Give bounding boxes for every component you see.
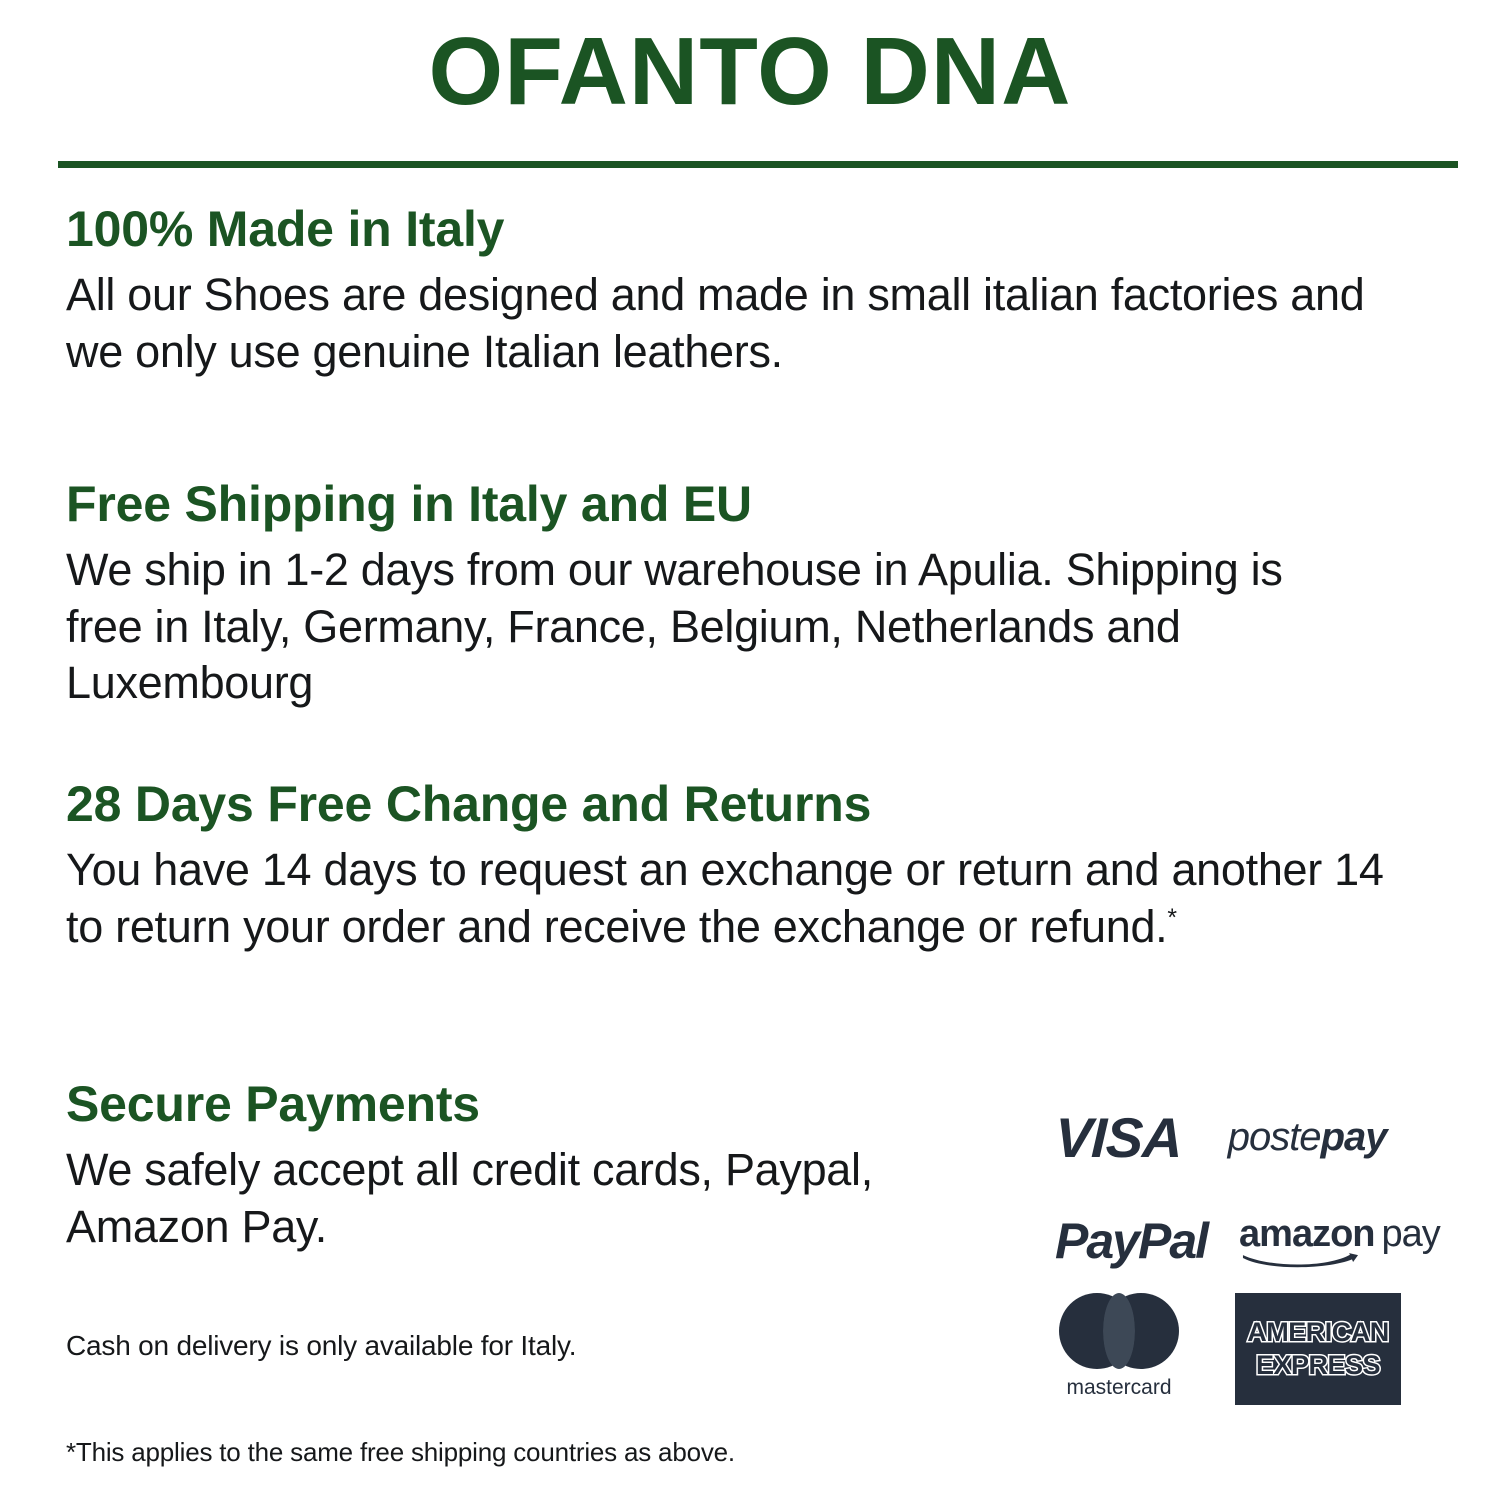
ofanto-dna-info-panel: OFANTO DNA 100% Made in Italy All our Sh… bbox=[0, 0, 1500, 1500]
payment-methods-group: VISA postepay PayPal amazonpay mastercar… bbox=[1055, 1085, 1455, 1423]
amex-line-1: AMERICAN bbox=[1247, 1319, 1389, 1346]
section-free-shipping: Free Shipping in Italy and EU We ship in… bbox=[66, 475, 1366, 712]
section-title-made-in-italy: 100% Made in Italy bbox=[66, 200, 1416, 259]
mastercard-icon: mastercard bbox=[1055, 1293, 1183, 1400]
section-body-secure-payments: We safely accept all credit cards, Paypa… bbox=[66, 1142, 996, 1255]
mastercard-overlap bbox=[1103, 1293, 1135, 1369]
amex-line-2: EXPRESS bbox=[1256, 1352, 1380, 1379]
section-title-free-shipping: Free Shipping in Italy and EU bbox=[66, 475, 1366, 534]
mastercard-label: mastercard bbox=[1055, 1376, 1183, 1400]
section-title-returns: 28 Days Free Change and Returns bbox=[66, 775, 1426, 834]
mastercard-circles-icon bbox=[1059, 1293, 1179, 1369]
postepay-icon-light: poste bbox=[1228, 1115, 1321, 1159]
title-divider bbox=[58, 161, 1458, 168]
section-title-secure-payments: Secure Payments bbox=[66, 1075, 996, 1134]
section-body-free-shipping: We ship in 1-2 days from our warehouse i… bbox=[66, 542, 1366, 712]
amazon-pay-icon-pay: pay bbox=[1382, 1213, 1440, 1255]
postepay-icon-bold: pay bbox=[1321, 1115, 1387, 1159]
returns-asterisk: * bbox=[1167, 905, 1176, 932]
amazon-pay-icon: amazonpay bbox=[1239, 1213, 1440, 1270]
postepay-icon: postepay bbox=[1228, 1115, 1387, 1160]
section-secure-payments: Secure Payments We safely accept all cre… bbox=[66, 1075, 996, 1255]
section-body-returns: You have 14 days to request an exchange … bbox=[66, 842, 1426, 955]
visa-icon: VISA bbox=[1054, 1105, 1183, 1170]
payment-row-1: VISA postepay bbox=[1055, 1085, 1455, 1189]
american-express-icon: AMERICAN EXPRESS bbox=[1235, 1293, 1401, 1405]
section-returns: 28 Days Free Change and Returns You have… bbox=[66, 775, 1426, 955]
amazon-pay-icon-word: amazon bbox=[1239, 1213, 1374, 1255]
amazon-swoosh-icon bbox=[1241, 1252, 1359, 1268]
page-title: OFANTO DNA bbox=[0, 18, 1500, 126]
paypal-icon: PayPal bbox=[1055, 1212, 1207, 1270]
section-body-returns-text: You have 14 days to request an exchange … bbox=[66, 844, 1384, 952]
section-body-made-in-italy: All our Shoes are designed and made in s… bbox=[66, 267, 1416, 380]
cash-on-delivery-note: Cash on delivery is only available for I… bbox=[66, 1330, 576, 1362]
payment-row-3: mastercard AMERICAN EXPRESS bbox=[1055, 1293, 1455, 1423]
payment-row-2: PayPal amazonpay bbox=[1055, 1189, 1455, 1293]
footnote-text: *This applies to the same free shipping … bbox=[66, 1437, 735, 1468]
section-made-in-italy: 100% Made in Italy All our Shoes are des… bbox=[66, 200, 1416, 380]
